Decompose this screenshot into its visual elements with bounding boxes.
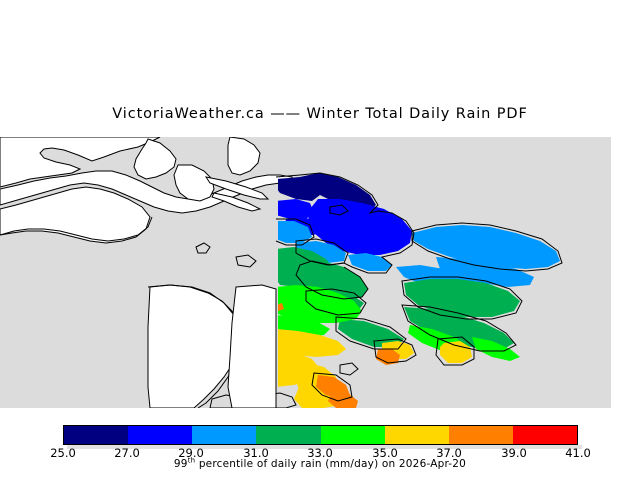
weather-map-figure: VictoriaWeather.ca —— Winter Total Daily… (0, 0, 640, 480)
colorbar-segment-25-27[interactable] (64, 426, 128, 444)
map-vector (0, 137, 611, 408)
colorbar-segment-31-33[interactable] (256, 426, 320, 444)
colorbar-caption: 99th percentile of daily rain (mm/day) o… (0, 458, 640, 470)
colorbar-bar[interactable] (63, 425, 578, 445)
colorbar-segment-27-29[interactable] (128, 426, 192, 444)
colorbar[interactable] (63, 425, 578, 445)
colorbar-segment-39-41[interactable] (513, 426, 577, 444)
colorbar-segment-29-31[interactable] (192, 426, 256, 444)
colorbar-segment-33-35[interactable] (321, 426, 385, 444)
colorbar-segment-37-39[interactable] (449, 426, 513, 444)
water-south-harbour (228, 285, 276, 408)
map-canvas[interactable] (0, 137, 611, 408)
page-title: VictoriaWeather.ca —— Winter Total Daily… (0, 106, 640, 122)
colorbar-segment-35-37[interactable] (385, 426, 449, 444)
caption-suffix: percentile of daily rain (mm/day) on 202… (195, 458, 466, 470)
caption-prefix: 99 (174, 458, 188, 470)
